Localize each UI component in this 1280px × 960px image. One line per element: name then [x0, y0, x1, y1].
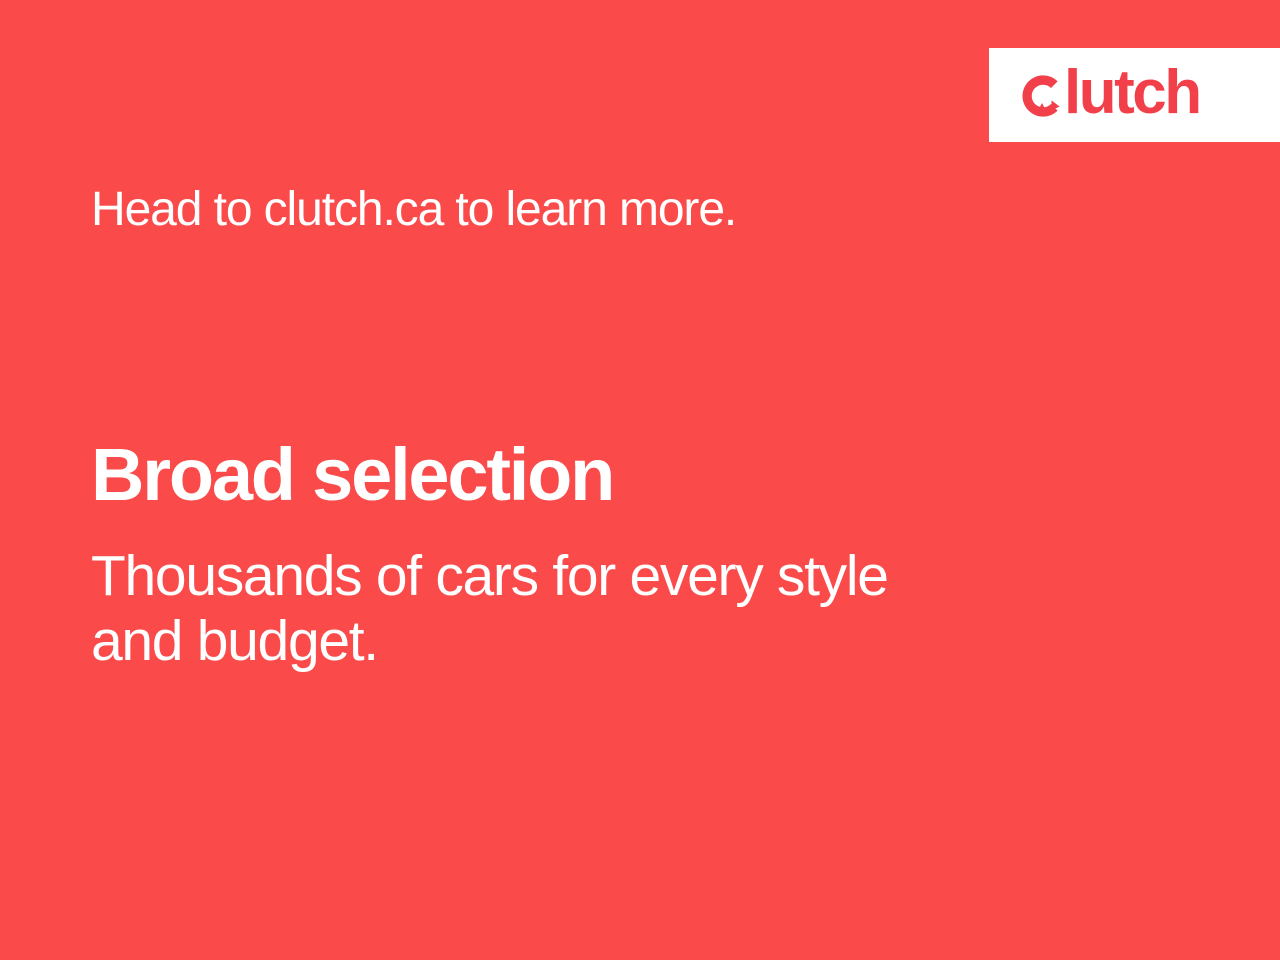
subheading-text: Thousands of cars for every style and bu…	[91, 544, 1051, 674]
marketing-slide: lutch Head to clutch.ca to learn more. B…	[0, 0, 1280, 960]
brand-logo-plate: lutch	[989, 48, 1280, 142]
subheading-line: Thousands of cars for every style	[91, 544, 1051, 609]
clutch-c-mark-icon	[1020, 73, 1066, 119]
eyebrow-text: Head to clutch.ca to learn more.	[91, 180, 736, 240]
page-title: Broad selection	[91, 433, 613, 517]
brand-wordmark: lutch	[1064, 62, 1200, 124]
subheading-line: and budget.	[91, 609, 1051, 674]
